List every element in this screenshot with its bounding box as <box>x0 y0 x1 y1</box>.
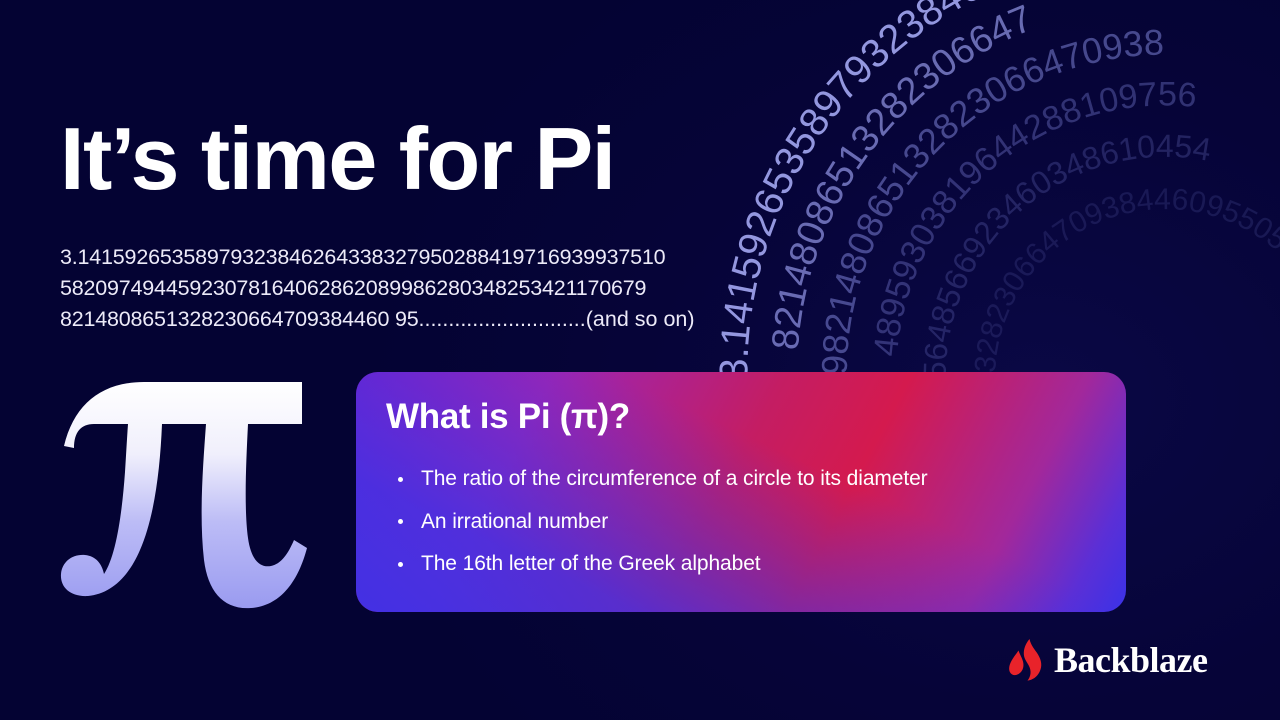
pi-digits-ellipsis: ............................ <box>419 307 586 331</box>
backblaze-logo: Backblaze <box>1009 638 1208 682</box>
spiral-digits-4: 48959303819644288109756 <box>867 75 1198 358</box>
pi-digits-line-3-number: 8214808651328230664709384460 95 <box>60 307 419 331</box>
spiral-ring-5: 5648566923460348610454 <box>917 128 1214 380</box>
list-item-label: The 16th letter of the Greek alphabet <box>421 552 761 575</box>
pi-symbol <box>52 368 314 618</box>
bullet-dot-icon <box>398 477 403 482</box>
pi-digits-line-2: 5820974944592307816406286208998628034825… <box>60 273 780 304</box>
list-item-label: An irrational number <box>421 510 608 533</box>
bullet-dot-icon <box>398 519 403 524</box>
spiral-digits-5: 5648566923460348610454 <box>917 128 1214 380</box>
list-item: An irrational number <box>388 501 1088 544</box>
card-bullet-list: The ratio of the circumference of a circ… <box>388 458 1088 586</box>
info-card: What is Pi (π)? The ratio of the circumf… <box>356 372 1126 612</box>
spiral-digits-2: 82148086513282306647 <box>765 0 1039 352</box>
pi-digits-line-3: 8214808651328230664709384460 95.........… <box>60 304 780 335</box>
svg-text:82148086513282306647: 82148086513282306647 <box>765 0 1039 352</box>
logo-wordmark: Backblaze <box>1054 642 1208 678</box>
spiral-ring-2: 82148086513282306647 <box>765 0 1039 352</box>
svg-text:48959303819644288109756: 48959303819644288109756 <box>867 75 1198 358</box>
spiral-ring-6: 3282306647093844609550582 <box>969 183 1280 374</box>
bullet-dot-icon <box>398 562 403 567</box>
list-item: The 16th letter of the Greek alphabet <box>388 543 1088 586</box>
svg-text:9821480865132823066470938: 9821480865132823066470938 <box>814 21 1165 375</box>
spiral-digits-3: 9821480865132823066470938 <box>814 21 1165 375</box>
page-title: It’s time for Pi <box>60 115 615 203</box>
list-item-label: The ratio of the circumference of a circ… <box>421 467 928 490</box>
pi-digits-paragraph: 3.14159265358979323846264338327950288419… <box>60 242 780 335</box>
flame-icon <box>1009 639 1043 681</box>
spiral-ring-4: 48959303819644288109756 <box>867 75 1198 358</box>
spiral-digits-6: 3282306647093844609550582 <box>969 183 1280 374</box>
spiral-ring-3: 9821480865132823066470938 <box>814 21 1165 375</box>
list-item: The ratio of the circumference of a circ… <box>388 458 1088 501</box>
svg-text:5648566923460348610454: 5648566923460348610454 <box>917 128 1214 380</box>
card-title: What is Pi (π)? <box>386 397 630 437</box>
svg-text:3282306647093844609550582: 3282306647093844609550582 <box>969 183 1280 374</box>
pi-spiral-background: 3.14159265358979323846 82148086513282306… <box>660 0 1280 720</box>
pi-digits-line-1: 3.14159265358979323846264338327950288419… <box>60 242 780 273</box>
poster-canvas: 3.14159265358979323846 82148086513282306… <box>0 0 1280 720</box>
pi-digits-and-so-on: (and so on) <box>586 307 695 331</box>
